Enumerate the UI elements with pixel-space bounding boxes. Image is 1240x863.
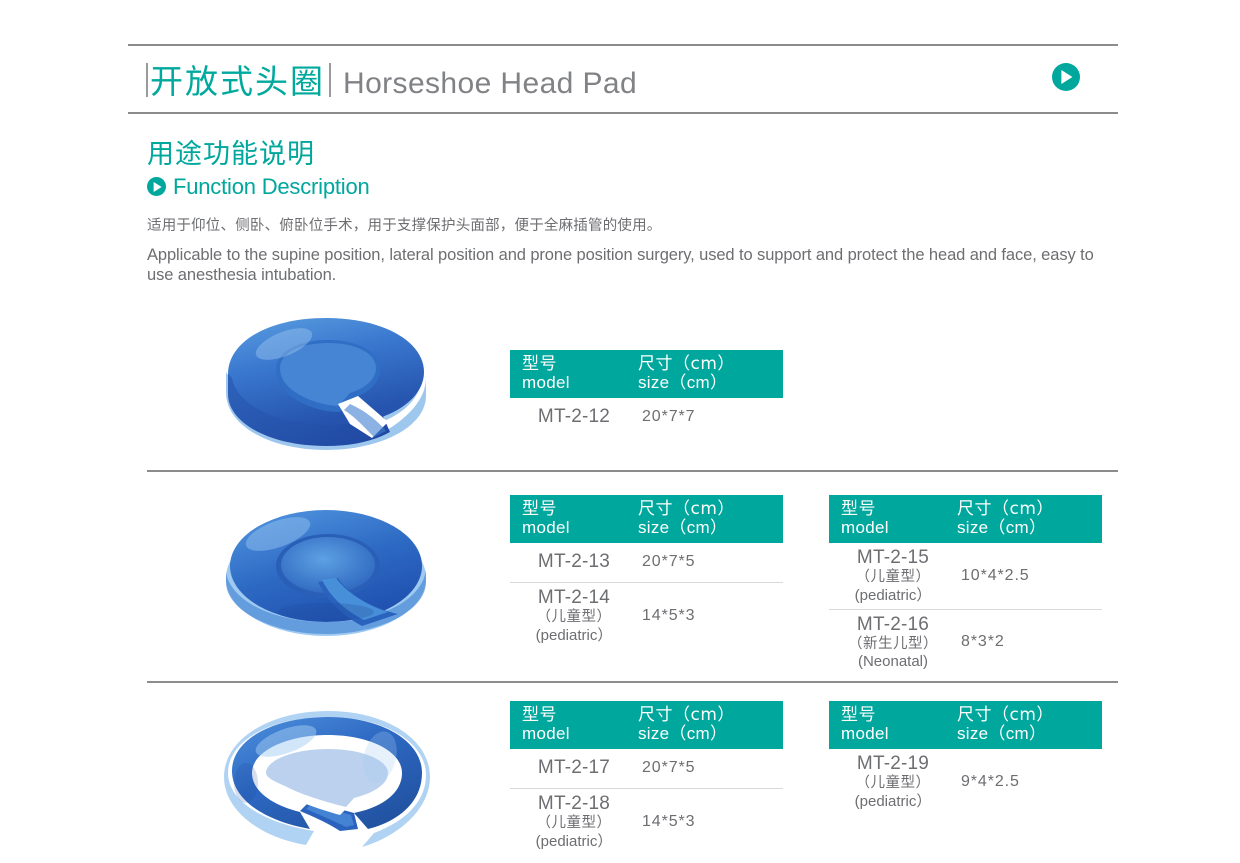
model-code: MT-2-15 xyxy=(857,547,929,568)
cell-size: 14*5*3 xyxy=(638,607,783,625)
header-size-en: size（cm） xyxy=(638,725,783,743)
cell-size: 20*7*5 xyxy=(638,759,783,777)
product-row: 型号 model 尺寸（cm） size（cm） MT-2-13 20*7*5 … xyxy=(147,478,1118,683)
product-image-soft-ring xyxy=(222,697,432,857)
model-variant-en: (pediatric） xyxy=(833,587,953,604)
cell-model: MT-2-15 （儿童型） (pediatric） xyxy=(829,547,957,604)
product-row: 型号 model 尺寸（cm） size（cm） MT-2-17 20*7*5 … xyxy=(147,689,1118,863)
section-heading-cn: 用途功能说明 xyxy=(147,138,370,172)
row-divider xyxy=(147,470,1118,472)
header-model-cn: 型号 xyxy=(841,501,957,519)
header-size-cell: 尺寸（cm） size（cm） xyxy=(638,356,783,391)
cell-size: 8*3*2 xyxy=(957,633,1102,651)
header-model-en: model xyxy=(522,374,638,392)
spec-tables: 型号 model 尺寸（cm） size（cm） MT-2-12 20*7*7 xyxy=(510,350,783,437)
row-divider xyxy=(147,681,1118,683)
page-title-en: Horseshoe Head Pad xyxy=(343,69,637,99)
spec-table-header: 型号 model 尺寸（cm） size（cm） xyxy=(510,350,783,398)
table-row: MT-2-16 （新生儿型） (Neonatal) 8*3*2 xyxy=(829,609,1102,676)
table-row: MT-2-15 （儿童型） (pediatric） 10*4*2.5 xyxy=(829,543,1102,609)
spec-table: 型号 model 尺寸（cm） size（cm） MT-2-19 （儿童型） (… xyxy=(829,701,1102,855)
model-variant-en: (Neonatal) xyxy=(833,653,953,670)
model-variant-en: (pediatric） xyxy=(514,627,634,644)
header-size-cn: 尺寸（cm） xyxy=(638,707,783,725)
model-code: MT-2-12 xyxy=(538,406,610,427)
header-model-en: model xyxy=(841,725,957,743)
function-description-heading: 用途功能说明 Function Description xyxy=(147,138,370,200)
cell-model: MT-2-16 （新生儿型） (Neonatal) xyxy=(829,614,957,671)
header-model-cell: 型号 model xyxy=(829,501,957,536)
section-heading-en-row: Function Description xyxy=(147,174,370,200)
header-model-cell: 型号 model xyxy=(829,707,957,742)
header-size-en: size（cm） xyxy=(957,519,1102,537)
spec-table-header: 型号 model 尺寸（cm） size（cm） xyxy=(829,495,1102,543)
table-row: MT-2-17 20*7*5 xyxy=(510,749,783,788)
spec-table: 型号 model 尺寸（cm） size（cm） MT-2-17 20*7*5 … xyxy=(510,701,783,855)
header-model-cell: 型号 model xyxy=(510,356,638,391)
play-circle-icon xyxy=(1052,63,1080,91)
cell-size: 20*7*5 xyxy=(638,553,783,571)
spec-table-header: 型号 model 尺寸（cm） size（cm） xyxy=(510,701,783,749)
model-variant-cn: （儿童型） xyxy=(833,569,953,586)
model-variant-en: (pediatric） xyxy=(833,793,953,810)
title-separator-bar xyxy=(329,63,331,97)
product-image-round-disc xyxy=(222,486,432,646)
header-model-cn: 型号 xyxy=(522,356,638,374)
page-header: 开放式头圈 Horseshoe Head Pad xyxy=(128,44,1118,114)
model-code: MT-2-14 xyxy=(538,587,610,608)
cell-size: 9*4*2.5 xyxy=(957,773,1102,791)
header-size-cell: 尺寸（cm） size（cm） xyxy=(957,501,1102,536)
table-row: MT-2-19 （儿童型） (pediatric） 9*4*2.5 xyxy=(829,749,1102,815)
table-row: MT-2-14 （儿童型） (pediatric） 14*5*3 xyxy=(510,582,783,649)
header-size-cn: 尺寸（cm） xyxy=(638,356,783,374)
header-play-button[interactable] xyxy=(1052,63,1080,96)
spec-tables: 型号 model 尺寸（cm） size（cm） MT-2-17 20*7*5 … xyxy=(510,701,1102,855)
header-model-en: model xyxy=(522,519,638,537)
table-row: MT-2-13 20*7*5 xyxy=(510,543,783,582)
description-block: 适用于仰位、侧卧、俯卧位手术，用于支撑保护头面部，便于全麻插管的使用。 Appl… xyxy=(147,216,1097,285)
cell-model: MT-2-17 xyxy=(510,757,638,779)
header-model-en: model xyxy=(841,519,957,537)
model-variant-cn: （儿童型） xyxy=(833,775,953,792)
cell-model: MT-2-18 （儿童型） (pediatric） xyxy=(510,793,638,850)
cell-model: MT-2-19 （儿童型） (pediatric） xyxy=(829,753,957,810)
section-heading-en: Function Description xyxy=(173,174,370,200)
model-code: MT-2-17 xyxy=(538,757,610,778)
header-size-en: size（cm） xyxy=(957,725,1102,743)
header-size-cell: 尺寸（cm） size（cm） xyxy=(638,707,783,742)
model-variant-cn: （儿童型） xyxy=(514,815,634,832)
spec-table-header: 型号 model 尺寸（cm） size（cm） xyxy=(829,701,1102,749)
description-cn: 适用于仰位、侧卧、俯卧位手术，用于支撑保护头面部，便于全麻插管的使用。 xyxy=(147,216,1097,238)
table-row: MT-2-12 20*7*7 xyxy=(510,398,783,437)
spec-tables: 型号 model 尺寸（cm） size（cm） MT-2-13 20*7*5 … xyxy=(510,495,1102,676)
model-variant-cn: （儿童型） xyxy=(514,609,634,626)
model-variant-cn: （新生儿型） xyxy=(833,636,953,653)
page-title-cn: 开放式头圈 xyxy=(150,65,325,98)
header-size-cell: 尺寸（cm） size（cm） xyxy=(957,707,1102,742)
header-size-cn: 尺寸（cm） xyxy=(957,707,1102,725)
header-size-cn: 尺寸（cm） xyxy=(638,501,783,519)
spec-table: 型号 model 尺寸（cm） size（cm） MT-2-15 （儿童型） (… xyxy=(829,495,1102,676)
header-model-cell: 型号 model xyxy=(510,501,638,536)
cell-size: 20*7*7 xyxy=(638,408,783,426)
header-size-en: size（cm） xyxy=(638,519,783,537)
model-code: MT-2-16 xyxy=(857,614,929,635)
spec-table-header: 型号 model 尺寸（cm） size（cm） xyxy=(510,495,783,543)
page-title: 开放式头圈 Horseshoe Head Pad xyxy=(146,59,1052,99)
spec-table: 型号 model 尺寸（cm） size（cm） MT-2-13 20*7*5 … xyxy=(510,495,783,676)
model-code: MT-2-13 xyxy=(538,551,610,572)
spec-table: 型号 model 尺寸（cm） size（cm） MT-2-12 20*7*7 xyxy=(510,350,783,437)
header-model-cn: 型号 xyxy=(841,707,957,725)
title-left-bar xyxy=(146,63,148,97)
header-size-cell: 尺寸（cm） size（cm） xyxy=(638,501,783,536)
table-row: MT-2-18 （儿童型） (pediatric） 14*5*3 xyxy=(510,788,783,855)
cell-model: MT-2-13 xyxy=(510,551,638,573)
play-circle-icon xyxy=(147,177,166,196)
header-model-en: model xyxy=(522,725,638,743)
cell-model: MT-2-12 xyxy=(510,406,638,428)
product-image-open-ring xyxy=(222,300,432,460)
model-code: MT-2-19 xyxy=(857,753,929,774)
model-variant-en: (pediatric） xyxy=(514,833,634,850)
model-code: MT-2-18 xyxy=(538,793,610,814)
cell-size: 10*4*2.5 xyxy=(957,567,1102,585)
product-row: 型号 model 尺寸（cm） size（cm） MT-2-12 20*7*7 xyxy=(147,292,1118,472)
header-model-cn: 型号 xyxy=(522,707,638,725)
header-size-en: size（cm） xyxy=(638,374,783,392)
cell-size: 14*5*3 xyxy=(638,813,783,831)
header-size-cn: 尺寸（cm） xyxy=(957,501,1102,519)
header-model-cn: 型号 xyxy=(522,501,638,519)
header-model-cell: 型号 model xyxy=(510,707,638,742)
description-en: Applicable to the supine position, later… xyxy=(147,245,1097,285)
cell-model: MT-2-14 （儿童型） (pediatric） xyxy=(510,587,638,644)
